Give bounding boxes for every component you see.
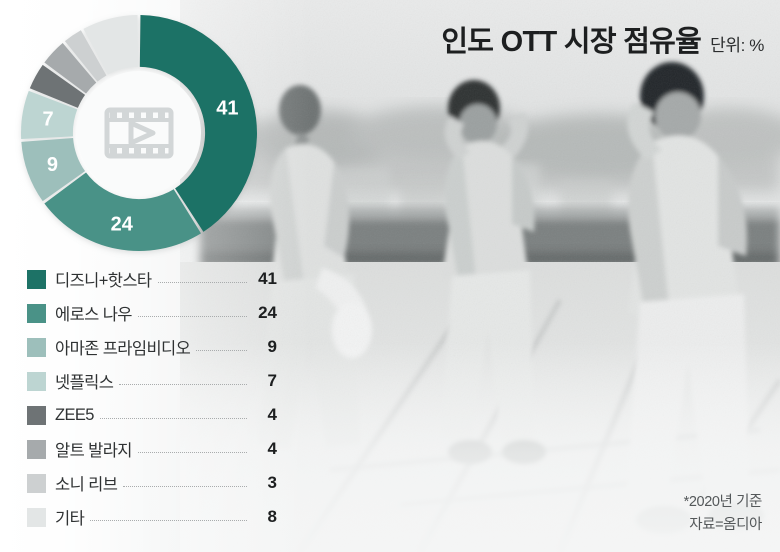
leader-line — [196, 349, 247, 351]
leader-line — [100, 417, 247, 419]
legend-row: 알트 발라지4 — [27, 432, 277, 466]
legend-label: 알트 발라지 — [55, 437, 132, 461]
legend-value: 24 — [253, 303, 277, 323]
legend-color-swatch — [27, 304, 46, 323]
leader-line — [90, 519, 247, 521]
page-title: 인도 OTT 시장 점유율 — [441, 18, 701, 60]
legend-color-swatch — [27, 474, 46, 493]
legend-color-swatch — [27, 508, 46, 527]
infographic-root: 인도 OTT 시장 점유율 단위: % 412497 — [0, 0, 780, 552]
leader-line — [158, 281, 247, 283]
legend-value: 4 — [253, 405, 277, 425]
legend-value: 3 — [253, 473, 277, 493]
legend-row: ZEE54 — [27, 398, 277, 432]
footnote-basis: *2020년 기준 — [684, 491, 762, 513]
legend-row: 소니 리브3 — [27, 466, 277, 500]
donut-slice-value: 24 — [111, 213, 134, 235]
chart-title-group: 인도 OTT 시장 점유율 단위: % — [441, 18, 764, 60]
legend-value: 41 — [253, 269, 277, 289]
legend: 디즈니+핫스타41에로스 나우24아마존 프라임비디오9넷플릭스7ZEE54알트… — [27, 262, 277, 534]
donut-hole — [77, 71, 201, 195]
legend-value: 9 — [253, 337, 277, 357]
legend-color-swatch — [27, 270, 46, 289]
legend-row: 기타8 — [27, 500, 277, 534]
legend-value: 7 — [253, 371, 277, 391]
legend-color-swatch — [27, 338, 46, 357]
legend-row: 아마존 프라임비디오9 — [27, 330, 277, 364]
legend-row: 디즈니+핫스타41 — [27, 262, 277, 296]
legend-label: 디즈니+핫스타 — [55, 267, 152, 291]
legend-label: 기타 — [55, 505, 84, 529]
leader-line — [138, 315, 247, 317]
legend-label: 에로스 나우 — [55, 301, 132, 325]
donut-slice-value: 9 — [47, 154, 58, 176]
legend-value: 8 — [253, 507, 277, 527]
leader-line — [123, 485, 247, 487]
legend-label: 넷플릭스 — [55, 369, 113, 393]
legend-row: 넷플릭스7 — [27, 364, 277, 398]
unit-label: 단위: % — [710, 31, 764, 56]
legend-value: 4 — [253, 439, 277, 459]
legend-row: 에로스 나우24 — [27, 296, 277, 330]
legend-color-swatch — [27, 372, 46, 391]
legend-color-swatch — [27, 406, 46, 425]
footnote-source: 자료=옴디아 — [684, 514, 762, 536]
legend-label: 아마존 프라임비디오 — [55, 335, 190, 359]
donut-slice-value: 41 — [216, 97, 238, 119]
leader-line — [119, 383, 247, 385]
leader-line — [138, 451, 247, 453]
footnote: *2020년 기준 자료=옴디아 — [684, 491, 762, 536]
legend-label: ZEE5 — [55, 406, 94, 425]
donut-chart: 412497 — [14, 8, 264, 258]
donut-slice-value: 7 — [43, 109, 54, 131]
legend-label: 소니 리브 — [55, 471, 117, 495]
legend-color-swatch — [27, 440, 46, 459]
